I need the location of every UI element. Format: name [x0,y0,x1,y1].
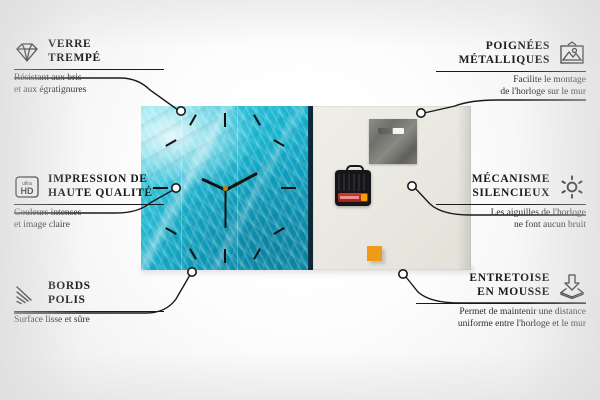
infographic-canvas: VERRE TREMPÉ Résistant aux bris et aux é… [0,0,600,400]
feature-poignees-metalliques: POIGNÉES MÉTALLIQUES Facilite le montage… [436,40,586,98]
feature-title-line2: MÉTALLIQUES [436,54,550,68]
feature-desc-line2: ne font aucun bruit [436,220,586,232]
feature-desc-line1: Permet de maintenir une distance [416,307,586,319]
feature-verre-trempe: VERRE TREMPÉ Résistant aux bris et aux é… [14,38,164,96]
feature-title-line1: BORDS [48,280,91,294]
foam-spacer-icon [558,273,586,299]
feature-desc-line2: uniforme entre l'horloge et le mur [416,319,586,331]
feature-impression-haute-qualite: ultra HD IMPRESSION DE HAUTE QUALITÉ Cou… [14,173,164,231]
connector-dot-poignees [417,109,425,117]
feature-rule [436,71,586,72]
ultra-hd-icon: ultra HD [14,175,40,199]
feature-title-line1: VERRE [48,38,101,52]
feature-desc-line2: de l'horloge sur le mur [436,87,586,99]
diamond-icon [14,41,40,63]
feature-rule [14,311,164,312]
feature-desc-line1: Facilite le montage [436,75,586,87]
connector-dot-mecanisme [408,182,416,190]
polished-edges-icon [14,283,40,305]
feature-rule [436,204,586,205]
feature-title-line1: ENTRETOISE [416,272,550,286]
feature-title-line2: EN MOUSSE [416,286,550,300]
connector-dot-bords-polis [188,268,196,276]
connector-dot-impression [172,184,180,192]
feature-desc-line2: et aux égratignures [14,85,164,97]
feature-title-line2: POLIS [48,294,91,308]
svg-text:HD: HD [21,186,34,196]
feature-entretoise-en-mousse: ENTRETOISE EN MOUSSE Permet de maintenir… [416,272,586,330]
feature-rule [14,69,164,70]
feature-desc-line1: Surface lisse et sûre [14,315,164,327]
connector-dot-verre-trempe [177,107,185,115]
feature-title-line2: TREMPÉ [48,52,101,66]
feature-title-line1: POIGNÉES [436,40,550,54]
connector-poignees [424,100,586,113]
feature-title-line2: SILENCIEUX [436,187,550,201]
feature-desc-line1: Les aiguilles de l'horloge [436,208,586,220]
connector-dot-entretoise [399,270,407,278]
feature-desc-line1: Résistant aux bris [14,73,164,85]
feature-title-line1: MÉCANISME [436,173,550,187]
feature-title-line2: HAUTE QUALITÉ [48,187,153,201]
gear-icon [558,174,586,200]
feature-title-line1: IMPRESSION DE [48,173,153,187]
picture-hanger-icon [558,41,586,67]
feature-desc-line2: et image claire [14,220,164,232]
feature-mecanisme-silencieux: MÉCANISME SILENCIEUX Les aiguilles de l'… [436,173,586,231]
feature-rule [14,204,164,205]
feature-desc-line1: Couleurs intenses [14,208,164,220]
feature-rule [416,303,586,304]
feature-bords-polis: BORDS POLIS Surface lisse et sûre [14,280,164,327]
